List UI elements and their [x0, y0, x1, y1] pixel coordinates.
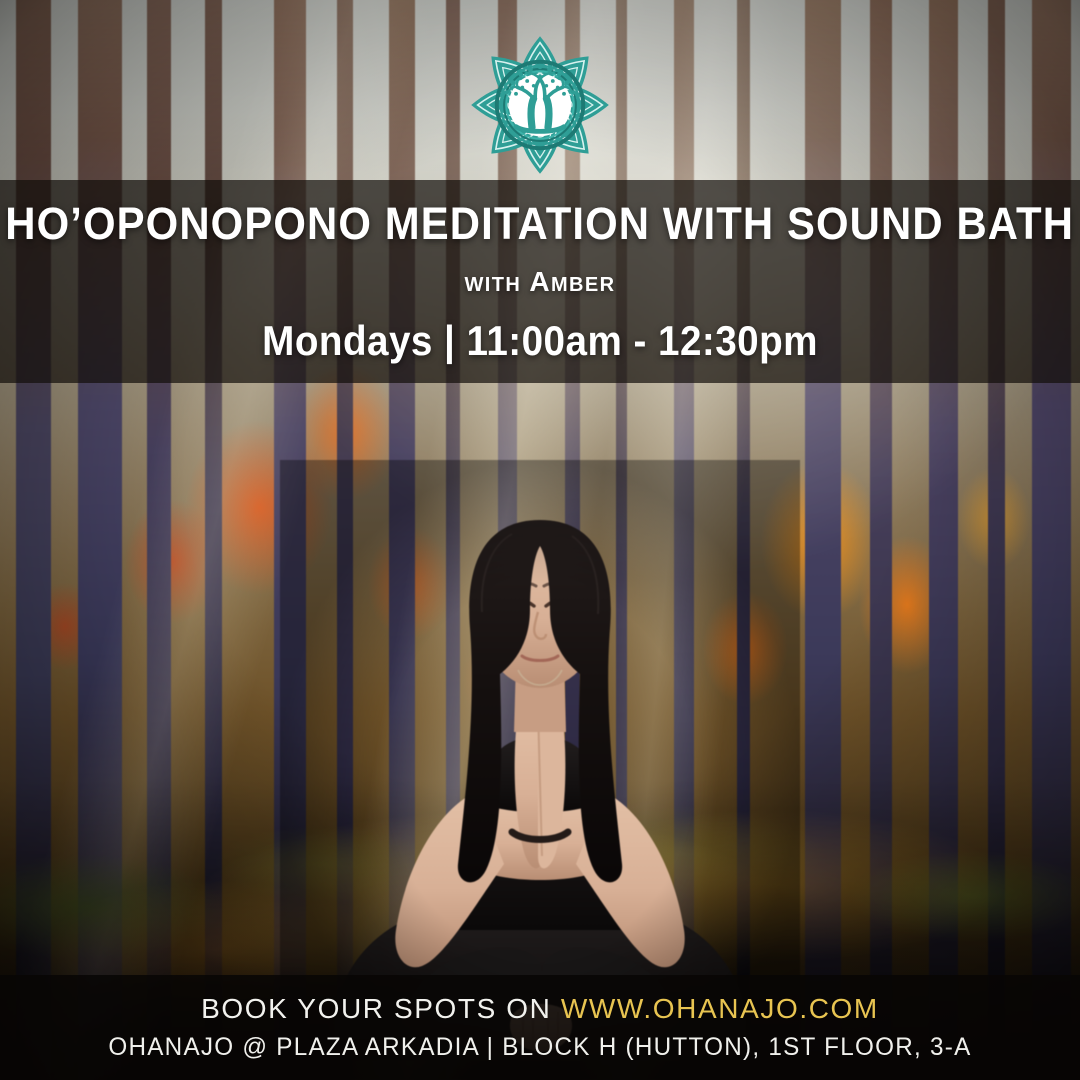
ohanajo-logo	[460, 25, 620, 185]
instructor-name: Amber	[529, 266, 615, 297]
website-url[interactable]: www.ohanajo.com	[561, 993, 879, 1024]
location-address: OhanaJo @ Plaza Arkadia | Block H (Hutto…	[108, 1033, 971, 1062]
page-title: Ho’oponopono Meditation with Sound Bath	[6, 201, 1075, 246]
instructor-line: with Amber	[465, 266, 616, 298]
instructor-prefix: with	[465, 266, 522, 297]
event-poster: Ho’oponopono Meditation with Sound Bath …	[0, 0, 1080, 1080]
schedule-text: Mondays | 11:00am - 12:30pm	[262, 317, 818, 365]
booking-prefix: Book your spots on	[201, 993, 551, 1024]
title-banner: Ho’oponopono Meditation with Sound Bath …	[0, 180, 1080, 383]
booking-line: Book your spots on www.ohanajo.com	[201, 993, 879, 1025]
footer-banner: Book your spots on www.ohanajo.com Ohana…	[0, 975, 1080, 1080]
